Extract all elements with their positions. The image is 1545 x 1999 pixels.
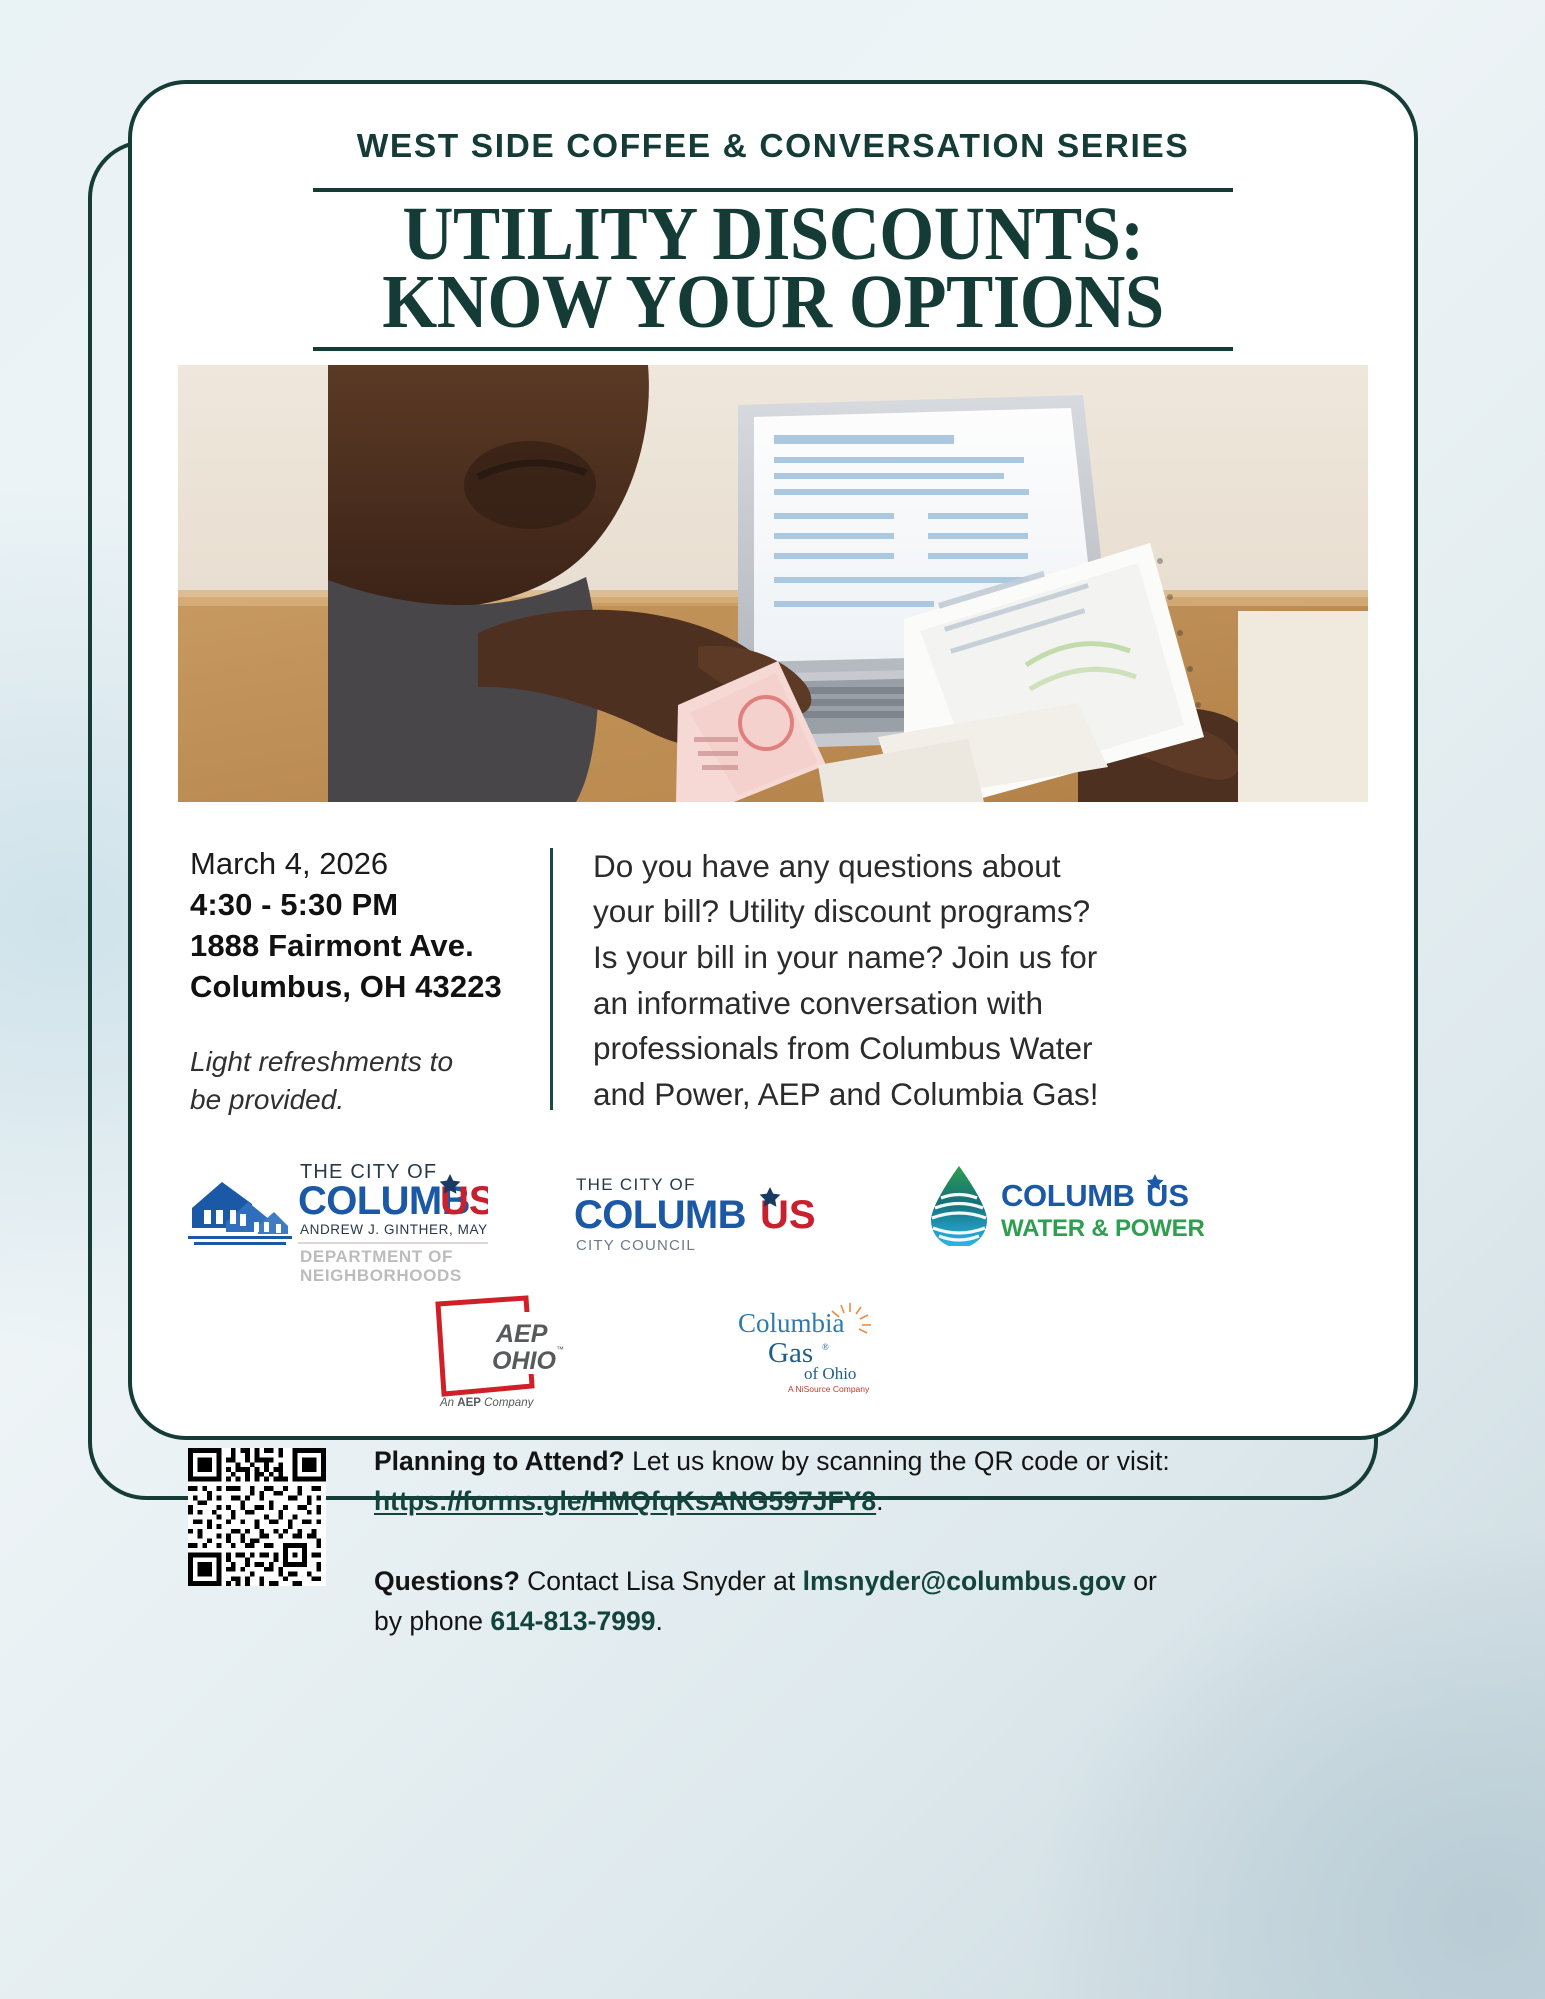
logo-aep-line2: OHIO — [492, 1347, 556, 1375]
hero-photo — [178, 365, 1368, 802]
event-date: March 4, 2026 — [190, 844, 550, 885]
logo-don-tagline: ANDREW J. GINTHER, MAYOR — [300, 1222, 488, 1237]
logo-columbia-gas-of-ohio: Columbia Gas ® of Ohio A NiSource Compan… — [732, 1302, 882, 1394]
rsvp-paragraph: Planning to Attend? Let us know by scann… — [374, 1442, 1170, 1522]
logo-don-sub2: NEIGHBORHOODS — [300, 1266, 462, 1284]
logo-columbus-department-of-neighborhoods: THE CITY OF COLUMB US ANDREW J. GINTHER,… — [188, 1152, 488, 1284]
contact-phone[interactable]: 614-813-7999 — [490, 1606, 655, 1636]
event-info-row: March 4, 2026 4:30 - 5:30 PM 1888 Fairmo… — [178, 844, 1368, 1119]
rsvp-prompt: Planning to Attend? — [374, 1446, 625, 1476]
contact-email[interactable]: lmsnyder@columbus.gov — [803, 1566, 1126, 1596]
logo-don-sub1: DEPARTMENT OF — [300, 1247, 453, 1266]
questions-text-1: Contact Lisa Snyder at — [520, 1566, 803, 1596]
event-details: March 4, 2026 4:30 - 5:30 PM 1888 Fairmo… — [178, 844, 550, 1119]
water-drop-icon — [931, 1166, 987, 1246]
rsvp-instructions: Let us know by scanning the QR code or v… — [625, 1446, 1170, 1476]
logo-cgo-line3: of Ohio — [804, 1364, 856, 1383]
logo-aep-tagline-pre: An — [439, 1397, 457, 1408]
logo-cgo-tagline: A NiSource Company — [788, 1384, 870, 1394]
title-block: UTILITY DISCOUNTS: KNOW YOUR OPTIONS — [178, 188, 1368, 351]
footer-section: Planning to Attend? Let us know by scann… — [178, 1442, 1368, 1641]
svg-text:An AEP Company: An AEP Company — [439, 1397, 535, 1408]
questions-text-3: by phone — [374, 1606, 490, 1636]
refreshments-note: Light refreshments to be provided. — [190, 1043, 550, 1118]
logo-columbus-water-and-power: COLUMB US WATER & POWER — [925, 1162, 1207, 1246]
logo-cwp-tagline: WATER & POWER — [1001, 1215, 1205, 1242]
rsvp-link[interactable]: https://forms.gle/HMQfqKsANG597JFY8 — [374, 1486, 876, 1516]
logo-cwp-wordmark: COLUMB — [1001, 1178, 1135, 1213]
logo-aep-line1: AEP — [495, 1320, 548, 1348]
logo-columbus-city-council: THE CITY OF COLUMB US CITY COUNCIL — [574, 1170, 829, 1256]
partner-logos-row-1: THE CITY OF COLUMB US ANDREW J. GINTHER,… — [178, 1152, 1368, 1284]
event-address-line2: Columbus, OH 43223 — [190, 967, 550, 1008]
rsvp-period: . — [876, 1486, 883, 1516]
event-time: 4:30 - 5:30 PM — [190, 885, 550, 926]
questions-text-2: or — [1126, 1566, 1157, 1596]
body-copy: Do you have any questions about your bil… — [593, 844, 1362, 1118]
logo-cgo-line1: Columbia — [738, 1308, 845, 1338]
flyer-card: WEST SIDE COFFEE & CONVERSATION SERIES U… — [128, 80, 1418, 1440]
footer-text: Planning to Attend? Let us know by scann… — [374, 1442, 1170, 1641]
logo-cc-line-small: THE CITY OF — [576, 1175, 696, 1194]
logo-aep-ohio: AEP OHIO ™ An AEP Company — [428, 1290, 578, 1408]
logo-cc-tagline: CITY COUNCIL — [576, 1237, 696, 1254]
page-title: UTILITY DISCOUNTS: KNOW YOUR OPTIONS — [220, 192, 1327, 347]
event-description: Do you have any questions about your bil… — [593, 844, 1368, 1119]
questions-prompt: Questions? — [374, 1566, 520, 1596]
questions-paragraph: Questions? Contact Lisa Snyder at lmsnyd… — [374, 1562, 1170, 1642]
title-rule-bottom — [313, 347, 1233, 351]
trademark-icon: ™ — [556, 1345, 564, 1354]
logo-cc-wordmark: COLUMB — [574, 1193, 746, 1237]
vertical-divider — [550, 848, 553, 1111]
logo-aep-tagline-post: Company — [481, 1397, 535, 1408]
partner-logos-row-2: AEP OHIO ™ An AEP Company Columbia Gas ®… — [178, 1290, 1368, 1408]
registered-icon: ® — [822, 1342, 829, 1352]
questions-period: . — [655, 1606, 662, 1636]
qr-code[interactable] — [188, 1448, 326, 1586]
series-kicker: WEST SIDE COFFEE & CONVERSATION SERIES — [178, 128, 1368, 166]
event-address-line1: 1888 Fairmont Ave. — [190, 926, 550, 967]
logo-aep-tagline-bold: AEP — [457, 1397, 481, 1408]
